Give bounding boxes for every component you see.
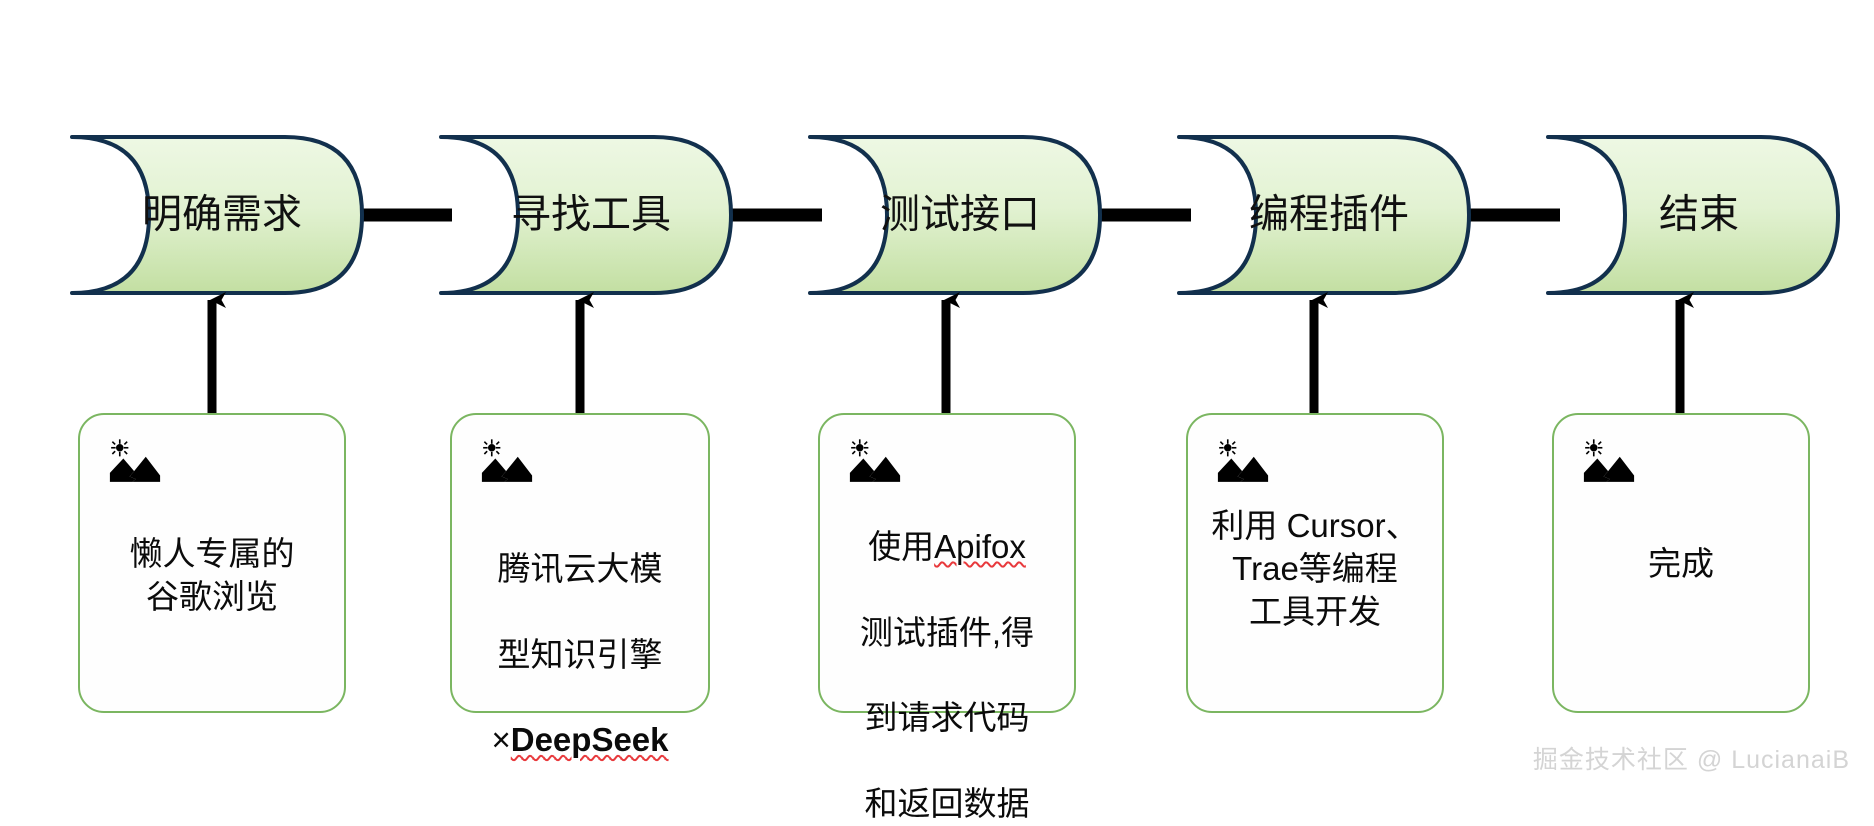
card-1[interactable]: 懒人专属的 谷歌浏览 — [78, 413, 346, 713]
card-5-text: 完成 — [1554, 543, 1808, 586]
stage-4[interactable]: 编程插件 — [1179, 137, 1469, 293]
card-4[interactable]: 利用 Cursor、 Trae等编程 工具开发 — [1186, 413, 1444, 713]
stage-1-label: 明确需求 — [142, 193, 302, 237]
card-3-line-3: 到请求代码 — [865, 699, 1030, 736]
card-stage-arrows — [212, 300, 1680, 415]
card-2-text: 腾讯云大模 型知识引擎 ×DeepSeek — [452, 505, 708, 762]
image-placeholder-icon — [846, 437, 904, 489]
stage-4-label: 编程插件 — [1249, 193, 1409, 237]
stage-5[interactable]: 结束 — [1548, 137, 1838, 293]
card-2-line-1: 腾讯云大模 — [498, 550, 663, 587]
watermark: 掘金技术社区 @ LucianaiB — [1533, 740, 1850, 776]
image-placeholder-icon — [478, 437, 536, 489]
card-2-line-2: 型知识引擎 — [498, 636, 663, 673]
stage-3[interactable]: 测试接口 — [810, 137, 1100, 293]
stage-3-label: 测试接口 — [880, 193, 1040, 237]
image-placeholder-icon — [1580, 437, 1638, 489]
card-2[interactable]: 腾讯云大模 型知识引擎 ×DeepSeek — [450, 413, 710, 713]
card-3-line-2: 测试插件,得 — [860, 614, 1034, 651]
card-3-line-1-prefix: 使用 — [868, 528, 934, 565]
image-placeholder-icon — [106, 437, 164, 489]
card-3-spellcheck-term: Apifox — [934, 528, 1026, 565]
card-3[interactable]: 使用Apifox 测试插件,得 到请求代码 和返回数据 — [818, 413, 1076, 713]
card-3-line-4: 和返回数据 — [865, 785, 1030, 822]
card-2-line-3-prefix: × — [491, 721, 510, 758]
stage-1[interactable]: 明确需求 — [72, 137, 362, 293]
stage-2-label: 寻找工具 — [511, 193, 671, 237]
stage-5-label: 结束 — [1659, 193, 1739, 237]
card-5[interactable]: 完成 — [1552, 413, 1810, 713]
card-4-text: 利用 Cursor、 Trae等编程 工具开发 — [1188, 505, 1442, 634]
card-3-text: 使用Apifox 测试插件,得 到请求代码 和返回数据 — [820, 483, 1074, 826]
diagram-canvas: 明确需求 寻找工具 测试接口 编程插件 结束 — [0, 0, 1874, 794]
card-2-spellcheck-term: DeepSeek — [511, 721, 669, 758]
card-1-text: 懒人专属的 谷歌浏览 — [80, 533, 344, 619]
stage-2[interactable]: 寻找工具 — [441, 137, 731, 293]
image-placeholder-icon — [1214, 437, 1272, 489]
